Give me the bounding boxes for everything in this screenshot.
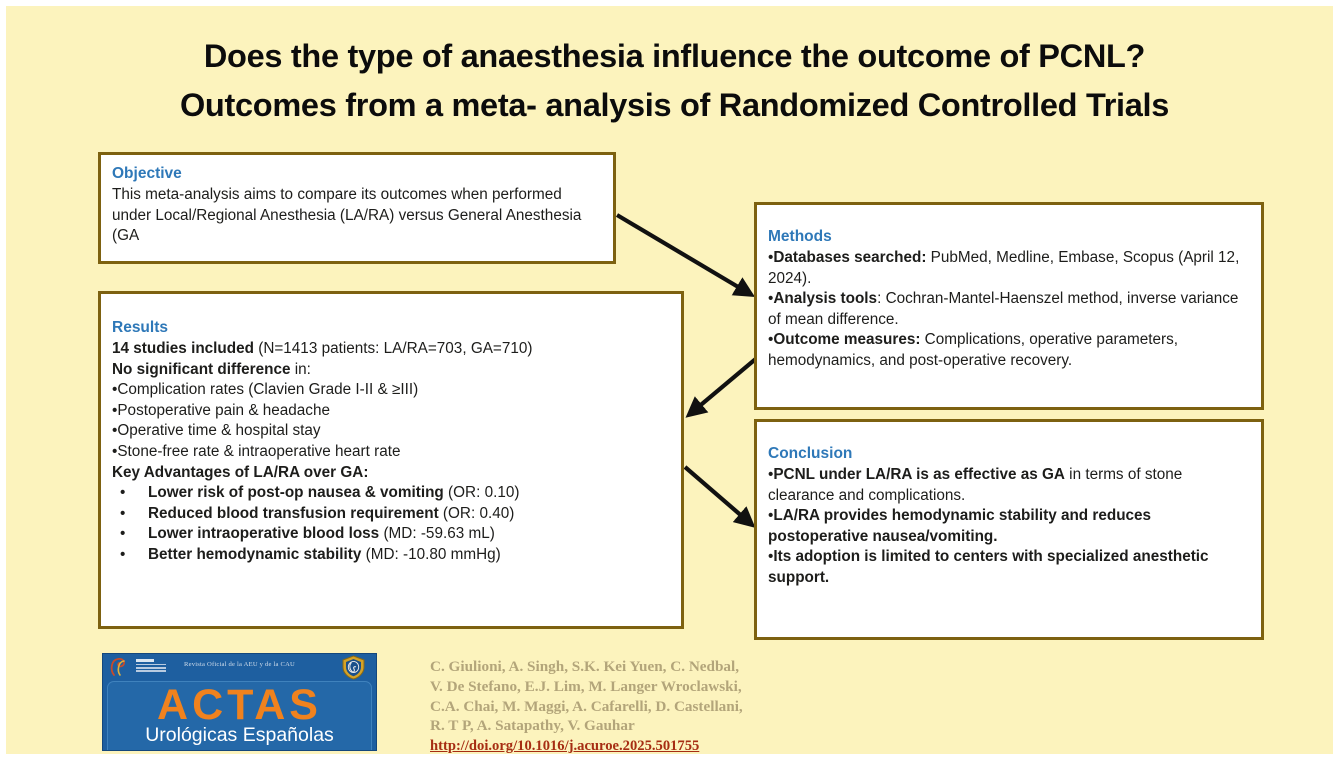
list-item-bold: Outcome measures: [773,331,920,348]
list-item: •Outcome measures: Complications, operat… [768,330,1250,371]
results-studies-rest: (N=1413 patients: LA/RA=703, GA=710) [254,340,533,357]
author-line: V. De Stefano, E.J. Lim, M. Langer Wrocl… [430,677,850,697]
list-item: •Complication rates (Clavien Grade I-II … [112,380,670,401]
list-item: •LA/RA provides hemodynamic stability an… [768,506,1250,547]
objective-panel: Objective This meta-analysis aims to com… [98,152,616,264]
list-item: •Operative time & hospital stay [112,421,670,442]
list-item-bold: Reduced blood transfusion requirement [148,505,439,522]
conclusion-heading: Conclusion [768,444,1250,464]
doi-link[interactable]: http://doi.org/10.1016/j.acuroe.2025.501… [430,737,850,756]
title-line-2: Outcomes from a meta- analysis of Random… [32,81,1317,130]
results-studies-line: 14 studies included (N=1413 patients: LA… [112,339,670,360]
list-item-rest: (MD: -59.63 mL) [379,525,495,542]
list-item-bold: LA/RA provides hemodynamic stability and… [768,507,1151,545]
list-item: • Lower intraoperative blood loss (MD: -… [112,524,670,545]
list-item-text: Reduced blood transfusion requirement (O… [148,504,670,525]
list-item-text: Lower risk of post-op nausea & vomiting … [148,483,670,504]
results-nosignificant-rest: in: [291,361,311,378]
author-line: C. Giulioni, A. Singh, S.K. Kei Yuen, C.… [430,657,850,677]
methods-panel: Methods •Databases searched: PubMed, Med… [754,202,1264,410]
list-item: •Postoperative pain & headache [112,401,670,422]
author-line: C.A. Chai, M. Maggi, A. Cafarelli, D. Ca… [430,697,850,717]
logo-revista-line: Revista Oficial de la AEU y de la CAU [103,661,376,668]
list-item-bold: Analysis tools [773,290,877,307]
bullet-icon: • [112,504,148,525]
list-item-bold: Better hemodynamic stability [148,546,361,563]
objective-body: This meta-analysis aims to compare its o… [112,185,602,247]
list-item: •Stone-free rate & intraoperative heart … [112,442,670,463]
logo-subtitle: Urológicas Españolas [108,724,371,746]
list-item-bold: Its adoption is limited to centers with … [768,548,1209,586]
list-item-rest: (OR: 0.40) [439,505,515,522]
methods-list: •Databases searched: PubMed, Medline, Em… [768,248,1250,371]
arrow-objective-to-methods [617,215,750,294]
results-heading: Results [112,318,670,338]
list-item-bold: Databases searched: [773,249,926,266]
list-item: •PCNL under LA/RA is as effective as GA … [768,465,1250,506]
list-item-bold: PCNL under LA/RA is as effective as GA [773,466,1065,483]
list-item: • Better hemodynamic stability (MD: -10.… [112,545,670,566]
results-panel: Results 14 studies included (N=1413 pati… [98,291,684,629]
title-line-1: Does the type of anaesthesia influence t… [32,32,1317,81]
results-advantages-list: • Lower risk of post-op nausea & vomitin… [112,483,670,565]
list-item: •Databases searched: PubMed, Medline, Em… [768,248,1250,289]
methods-heading: Methods [768,227,1250,247]
bullet-icon: • [112,545,148,566]
logo-title-area: ACTAS Urológicas Españolas [107,681,372,751]
arrow-results-to-conclusion [685,467,751,524]
conclusion-panel: Conclusion •PCNL under LA/RA is as effec… [754,419,1264,640]
bullet-icon: • [112,524,148,545]
list-item-rest: (OR: 0.10) [444,484,520,501]
list-item-rest: (MD: -10.80 mmHg) [361,546,500,563]
bullet-icon: • [112,483,148,504]
arrow-methods-to-results [690,357,758,414]
results-nodifference-list: •Complication rates (Clavien Grade I-II … [112,380,670,462]
list-item-bold: Lower intraoperative blood loss [148,525,379,542]
results-nosignificant-line: No significant difference in: [112,360,670,381]
list-item: •Its adoption is limited to centers with… [768,547,1250,588]
results-advantages-heading: Key Advantages of LA/RA over GA: [112,463,670,484]
cau-shield-icon [341,655,366,680]
logo-title-actas: ACTAS [108,682,371,728]
logo-header-bar: Revista Oficial de la AEU y de la CAU [103,654,376,681]
results-studies-bold: 14 studies included [112,340,254,357]
advantages-heading-text: Key Advantages of LA/RA over GA: [112,464,368,481]
author-line: R. T P, A. Satapathy, V. Gauhar [430,716,850,736]
list-item-bold: Lower risk of post-op nausea & vomiting [148,484,444,501]
list-item-text: Better hemodynamic stability (MD: -10.80… [148,545,670,566]
list-item: • Lower risk of post-op nausea & vomitin… [112,483,670,504]
conclusion-list: •PCNL under LA/RA is as effective as GA … [768,465,1250,588]
journal-logo: Revista Oficial de la AEU y de la CAU AC… [102,653,377,751]
author-list: C. Giulioni, A. Singh, S.K. Kei Yuen, C.… [430,657,850,756]
objective-heading: Objective [112,164,602,184]
results-nosignificant-bold: No significant difference [112,361,291,378]
list-item-text: Lower intraoperative blood loss (MD: -59… [148,524,670,545]
graphical-abstract-poster: Does the type of anaesthesia influence t… [0,0,1333,754]
page-title: Does the type of anaesthesia influence t… [32,32,1317,130]
list-item: • Reduced blood transfusion requirement … [112,504,670,525]
list-item: •Analysis tools: Cochran-Mantel-Haenszel… [768,289,1250,330]
